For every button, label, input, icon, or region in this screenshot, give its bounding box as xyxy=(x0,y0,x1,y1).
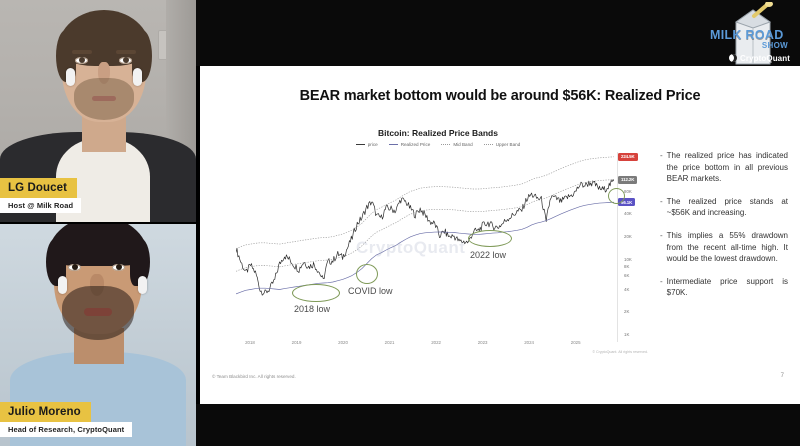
legend-label: Mid Band xyxy=(453,142,472,147)
slide-bullet-2: -This implies a 55% drawdown from the re… xyxy=(660,230,788,265)
legend-item-upper-band: Upper Band xyxy=(484,142,521,147)
chart-legend: price Realized Price Mid Band Upper Band xyxy=(228,142,648,147)
x-axis-tick-label: 2024 xyxy=(524,340,534,345)
logo-text-primary: MILK ROAD xyxy=(710,28,784,42)
y-axis-tick-label: 2K xyxy=(624,309,629,314)
chart-title: Bitcoin: Realized Price Bands xyxy=(228,128,648,138)
bullet-dash-icon: - xyxy=(660,230,663,265)
chart-series-upper-band xyxy=(236,157,614,249)
bullet-dash-icon: - xyxy=(660,150,663,185)
cryptoquant-credit: CryptoQuant xyxy=(729,54,790,63)
legend-item-mid-band: Mid Band xyxy=(441,142,472,147)
chart-svg xyxy=(236,152,614,334)
y-axis-tick-label: 40K xyxy=(624,211,632,216)
x-axis-tick-label: 2021 xyxy=(385,340,395,345)
x-axis-tick-label: 2018 xyxy=(245,340,255,345)
chart-credit: © CryptoQuant. All rights reserved. xyxy=(592,350,648,354)
bullet-text: Intermediate price support is $70K. xyxy=(667,276,788,299)
chart-container: Bitcoin: Realized Price Bands price Real… xyxy=(228,128,648,360)
annotation-ellipse-2018-low xyxy=(292,284,340,302)
person-eye xyxy=(72,264,78,270)
cryptoquant-credit-text: CryptoQuant xyxy=(740,54,790,63)
chart-y-axis: 80K40K20K10K8K6K4K2K1K224.5K112.2K56.1K xyxy=(618,152,652,342)
bullet-text: The realized price stands at ~$56K and i… xyxy=(667,196,788,219)
slide-title: BEAR market bottom would be around $56K:… xyxy=(200,88,800,104)
letterbox-bottom xyxy=(196,404,800,446)
slide-copyright: © Team Blackbird Inc. All rights reserve… xyxy=(212,374,296,379)
annotation-ellipse-current xyxy=(608,188,625,204)
person-brow xyxy=(64,256,86,260)
earbud-icon xyxy=(133,68,142,86)
y-axis-tick-label: 80K xyxy=(624,189,632,194)
earbud-icon xyxy=(138,276,147,294)
legend-swatch-icon xyxy=(356,144,365,145)
chart-series-price xyxy=(236,180,614,296)
person-mouth xyxy=(92,96,116,101)
x-axis-tick-label: 2019 xyxy=(292,340,302,345)
person-eye xyxy=(79,57,85,63)
y-axis-value-badge-mid-band: 112.2K xyxy=(618,176,637,184)
earbud-icon xyxy=(66,68,75,86)
annotation-label-covid-low: COVID low xyxy=(348,286,393,296)
person-brow xyxy=(116,50,136,54)
participant-nametag-1: Julio Moreno Head of Research, CryptoQua… xyxy=(0,402,132,437)
chart-x-axis: 20182019202020212022202320242025 xyxy=(236,340,618,354)
x-axis-tick-label: 2025 xyxy=(571,340,581,345)
x-axis-tick-label: 2023 xyxy=(478,340,488,345)
chart-series-realized-price xyxy=(236,202,614,294)
participant-name: Julio Moreno xyxy=(0,402,91,422)
participant-tile-0[interactable]: LG Doucet Host @ Milk Road xyxy=(0,0,196,222)
y-axis-value-badge-upper-band: 224.5K xyxy=(618,153,638,161)
screen-root: LG Doucet Host @ Milk Road xyxy=(0,0,800,446)
x-axis-tick-label: 2020 xyxy=(338,340,348,345)
legend-label: Realized Price xyxy=(401,142,431,147)
slide-bullet-3: -Intermediate price support is $70K. xyxy=(660,276,788,299)
slide-bullet-0: -The realized price has indicated the pr… xyxy=(660,150,788,185)
legend-swatch-icon xyxy=(441,144,450,145)
annotation-ellipse-covid-low xyxy=(356,264,378,284)
annotation-ellipse-2022-low xyxy=(468,230,512,247)
legend-label: Upper Band xyxy=(496,142,521,147)
participant-tile-1[interactable]: Julio Moreno Head of Research, CryptoQua… xyxy=(0,224,196,446)
y-axis-tick-label: 1K xyxy=(624,332,629,337)
person-mouth xyxy=(84,308,112,316)
annotation-label-2022-low: 2022 low xyxy=(470,250,506,260)
chart-series-mid-band xyxy=(236,180,614,272)
legend-item-price: price xyxy=(356,142,378,147)
bullet-dash-icon: - xyxy=(660,196,663,219)
slide-bullet-list: -The realized price has indicated the pr… xyxy=(660,150,788,310)
participant-role: Host @ Milk Road xyxy=(0,198,81,213)
slide-page-number: 7 xyxy=(781,373,784,379)
bullet-text: The realized price has indicated the pri… xyxy=(667,150,788,185)
y-axis-tick-label: 8K xyxy=(624,264,629,269)
legend-item-realized-price: Realized Price xyxy=(389,142,431,147)
x-axis-tick-label: 2022 xyxy=(431,340,441,345)
slide-bullet-1: -The realized price stands at ~$56K and … xyxy=(660,196,788,219)
participant-video-column: LG Doucet Host @ Milk Road xyxy=(0,0,196,446)
person-eye xyxy=(116,264,122,270)
y-axis-tick-label: 6K xyxy=(624,273,629,278)
earbud-icon xyxy=(58,276,67,294)
cryptoquant-logo-icon xyxy=(729,54,737,62)
participant-role: Head of Research, CryptoQuant xyxy=(0,422,132,437)
logo-text-secondary: SHOW xyxy=(762,41,788,50)
participant-name: LG Doucet xyxy=(0,178,77,198)
person-eye xyxy=(123,57,129,63)
person-brow xyxy=(72,50,92,54)
legend-label: price xyxy=(368,142,378,147)
bullet-text: This implies a 55% drawdown from the rec… xyxy=(667,230,788,265)
y-axis-tick-label: 10K xyxy=(624,257,632,262)
y-axis-tick-label: 20K xyxy=(624,234,632,239)
participant-nametag-0: LG Doucet Host @ Milk Road xyxy=(0,178,81,213)
person-brow xyxy=(110,256,132,260)
y-axis-tick-label: 4K xyxy=(624,287,629,292)
bullet-dash-icon: - xyxy=(660,276,663,299)
chart-plot-area: CryptoQuant xyxy=(236,152,614,334)
legend-swatch-icon xyxy=(484,144,493,145)
legend-swatch-icon xyxy=(389,144,398,145)
annotation-label-2018-low: 2018 low xyxy=(294,304,330,314)
